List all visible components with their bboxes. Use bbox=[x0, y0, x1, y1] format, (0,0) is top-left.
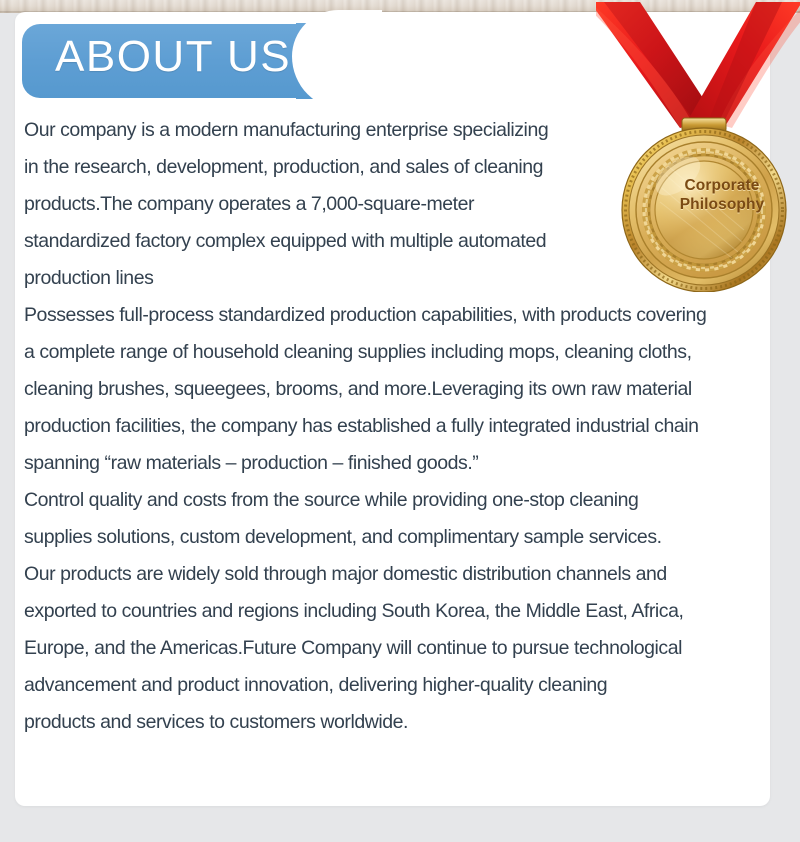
paragraph-1: Our company is a modern manufacturing en… bbox=[24, 112, 776, 297]
paragraph-2: Possesses full-process standardized prod… bbox=[24, 297, 776, 482]
copy-line: spanning “raw materials – production – f… bbox=[24, 445, 776, 482]
page-title: ABOUT US bbox=[55, 32, 291, 82]
copy-line: standardized factory complex equipped wi… bbox=[24, 223, 776, 260]
paragraph-3: Control quality and costs from the sourc… bbox=[24, 482, 776, 741]
copy-line: exported to countries and regions includ… bbox=[24, 593, 776, 630]
copy-line: Control quality and costs from the sourc… bbox=[24, 482, 776, 519]
copy-line: production facilities, the company has e… bbox=[24, 408, 776, 445]
copy-line: advancement and product innovation, deli… bbox=[24, 667, 776, 704]
copy-line: in the research, development, production… bbox=[24, 149, 776, 186]
copy-line: a complete range of household cleaning s… bbox=[24, 334, 776, 371]
copy-line: products and services to customers world… bbox=[24, 704, 776, 741]
about-us-body: Our company is a modern manufacturing en… bbox=[24, 112, 776, 741]
copy-line: Possesses full-process standardized prod… bbox=[24, 297, 776, 334]
page-root: ABOUT US Our company is a modern manufac… bbox=[0, 0, 800, 842]
copy-line: Our company is a modern manufacturing en… bbox=[24, 112, 776, 149]
copy-line: supplies solutions, custom development, … bbox=[24, 519, 776, 556]
copy-line: Our products are widely sold through maj… bbox=[24, 556, 776, 593]
copy-line: cleaning brushes, squeegees, brooms, and… bbox=[24, 371, 776, 408]
copy-line: Europe, and the Americas.Future Company … bbox=[24, 630, 776, 667]
copy-line: production lines bbox=[24, 260, 776, 297]
copy-line: products.The company operates a 7,000-sq… bbox=[24, 186, 776, 223]
